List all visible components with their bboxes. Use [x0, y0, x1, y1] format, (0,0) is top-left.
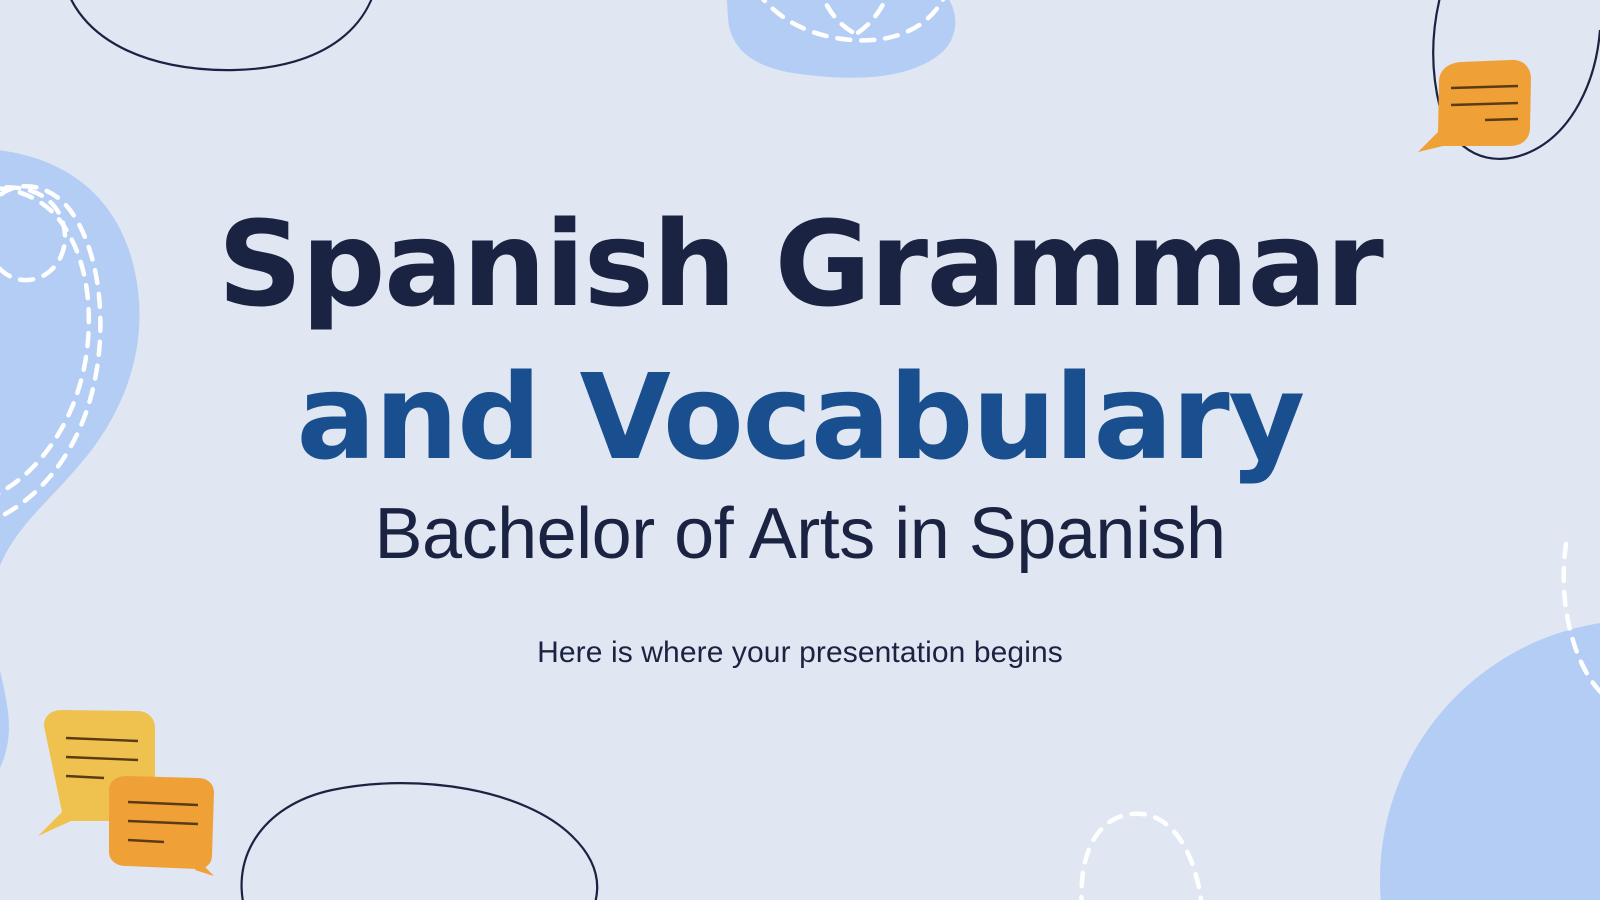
slide-subtitle: Bachelor of Arts in Spanish: [0, 498, 1600, 570]
title-line-primary: Spanish Grammar: [0, 205, 1600, 323]
slide-tagline: Here is where your presentation begins: [0, 638, 1600, 668]
presentation-slide: Spanish Grammar and Vocabulary Bachelor …: [0, 0, 1600, 900]
slide-text-block: Spanish Grammar and Vocabulary Bachelor …: [0, 0, 1600, 900]
title-line-accent: and Vocabulary: [0, 358, 1600, 476]
